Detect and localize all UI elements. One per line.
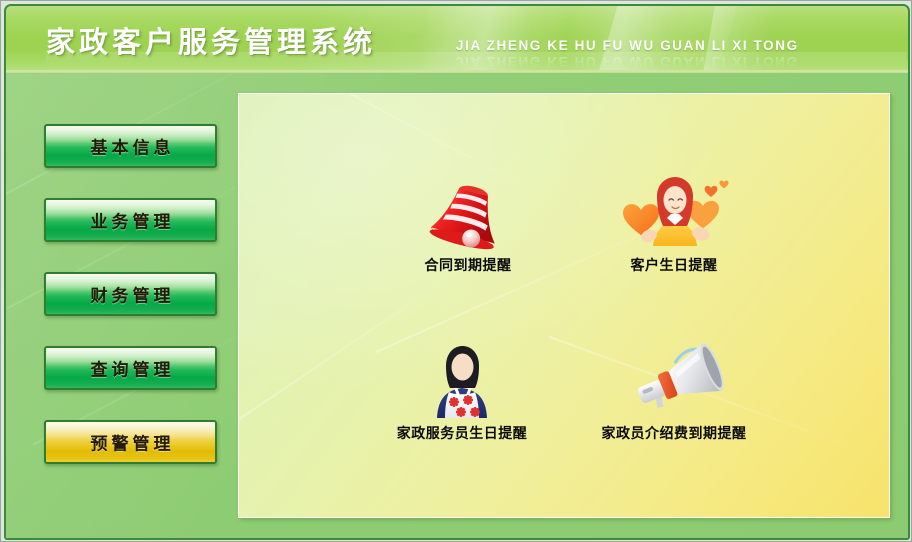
sidebar-item-alerts[interactable]: 预警管理: [44, 420, 217, 464]
sidebar-item-label: 财务管理: [46, 282, 215, 307]
main-body: 基本信息 业务管理 财务管理 查询管理 预警管理: [6, 73, 908, 538]
app-subtitle-pinyin: JIA ZHENG KE HU FU WU GUAN LI XI TONG: [456, 38, 799, 53]
sidebar-item-label: 业务管理: [46, 208, 215, 233]
application-window: 家政客户服务管理系统 JIA ZHENG KE HU FU WU GUAN LI…: [0, 0, 912, 542]
sidebar-item-label: 预警管理: [46, 430, 215, 455]
tile-referral-fee-expiry-reminder[interactable]: 家政员介绍费到期提醒: [579, 342, 769, 443]
tile-housekeeper-birthday-reminder[interactable]: 家政服务员生日提醒: [367, 342, 557, 443]
sidebar-item-basic-info[interactable]: 基本信息: [44, 124, 217, 168]
tile-customer-birthday-reminder[interactable]: 客户生日提醒: [579, 174, 769, 275]
tile-label: 合同到期提醒: [373, 255, 563, 275]
app-title: 家政客户服务管理系统: [46, 26, 376, 58]
girl-hearts-icon: [579, 174, 769, 252]
sidebar-item-business[interactable]: 业务管理: [44, 198, 217, 242]
header-banner: 家政客户服务管理系统 JIA ZHENG KE HU FU WU GUAN LI…: [6, 6, 908, 70]
sidebar-item-label: 查询管理: [46, 356, 215, 381]
megaphone-icon: [579, 342, 769, 420]
tile-label: 家政员介绍费到期提醒: [579, 423, 769, 443]
content-panel: 合同到期提醒: [238, 93, 890, 518]
sidebar-item-finance[interactable]: 财务管理: [44, 272, 217, 316]
window-frame: 家政客户服务管理系统 JIA ZHENG KE HU FU WU GUAN LI…: [4, 4, 910, 540]
app-subtitle-reflection: JIA ZHENG KE HU FU WU GUAN LI XI TONG: [456, 54, 799, 69]
tile-label: 家政服务员生日提醒: [367, 423, 557, 443]
sidebar-navigation: 基本信息 业务管理 财务管理 查询管理 预警管理: [6, 73, 234, 538]
bell-icon: [373, 174, 563, 252]
tile-label: 客户生日提醒: [579, 255, 769, 275]
sidebar-item-label: 基本信息: [46, 134, 215, 159]
housekeeper-icon: [367, 342, 557, 420]
tile-contract-expiry-reminder[interactable]: 合同到期提醒: [373, 174, 563, 275]
sidebar-item-query[interactable]: 查询管理: [44, 346, 217, 390]
